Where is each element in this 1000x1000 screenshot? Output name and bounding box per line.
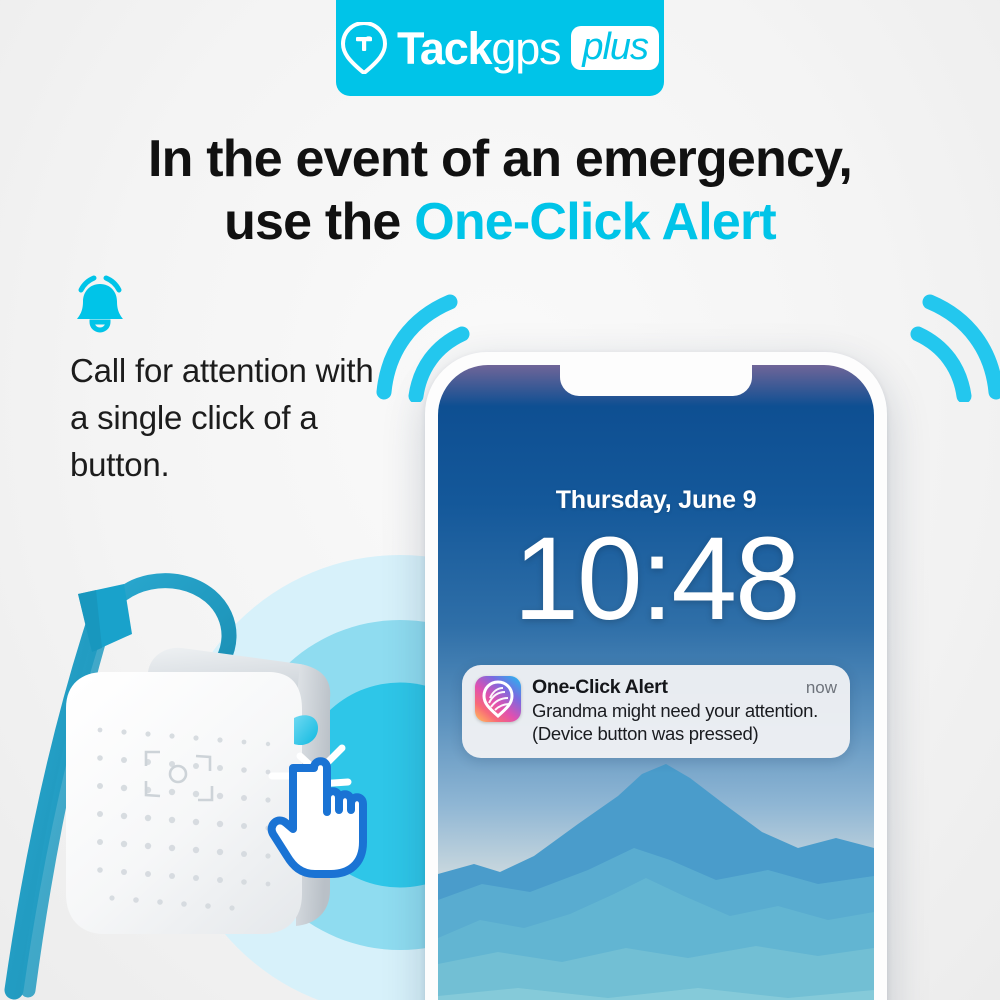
logo-wordmark: Tackgps [397, 26, 560, 71]
brand-logo-bar: Tackgps plus [336, 0, 664, 96]
phone-mockup: Thursday, June 9 10:48 [425, 352, 887, 1000]
promo-graphic: Tackgps plus In the event of an emergenc… [0, 0, 1000, 1000]
tackgps-app-icon [475, 676, 521, 722]
notification-message: Grandma might need your attention. (Devi… [532, 700, 837, 745]
notification-content: One-Click Alert now Grandma might need y… [532, 676, 837, 745]
lock-screen-date: Thursday, June 9 [438, 486, 874, 515]
logo-word-light: gps [491, 23, 560, 74]
feature-description: Call for attention with a single click o… [70, 348, 400, 489]
phone-screen: Thursday, June 9 10:48 [438, 365, 874, 1000]
gps-tracker-device [0, 560, 460, 1000]
notification-header: One-Click Alert now [532, 676, 837, 699]
lock-screen-time: 10:48 [438, 515, 874, 645]
notification-title: One-Click Alert [532, 676, 668, 699]
map-pin-icon [341, 22, 387, 74]
headline-accent: One-Click Alert [414, 193, 776, 251]
device-front-face [66, 672, 302, 934]
page-title: In the event of an emergency, use the On… [0, 128, 1000, 255]
headline-line-1: In the event of an emergency, [0, 128, 1000, 191]
signal-waves-right-icon [888, 292, 1000, 402]
headline-line-2: use the One-Click Alert [0, 191, 1000, 254]
headline-line-2-plain: use the [224, 193, 414, 251]
bell-icon [68, 274, 132, 340]
notification-timestamp: now [806, 678, 837, 698]
notification-banner[interactable]: One-Click Alert now Grandma might need y… [462, 665, 850, 758]
blue-mountains-wallpaper [438, 752, 874, 1000]
phone-notch [560, 365, 752, 396]
logo-plus-badge: plus [571, 26, 659, 70]
logo-word-bold: Tack [397, 23, 491, 74]
logo-plus-label: plus [582, 26, 648, 68]
